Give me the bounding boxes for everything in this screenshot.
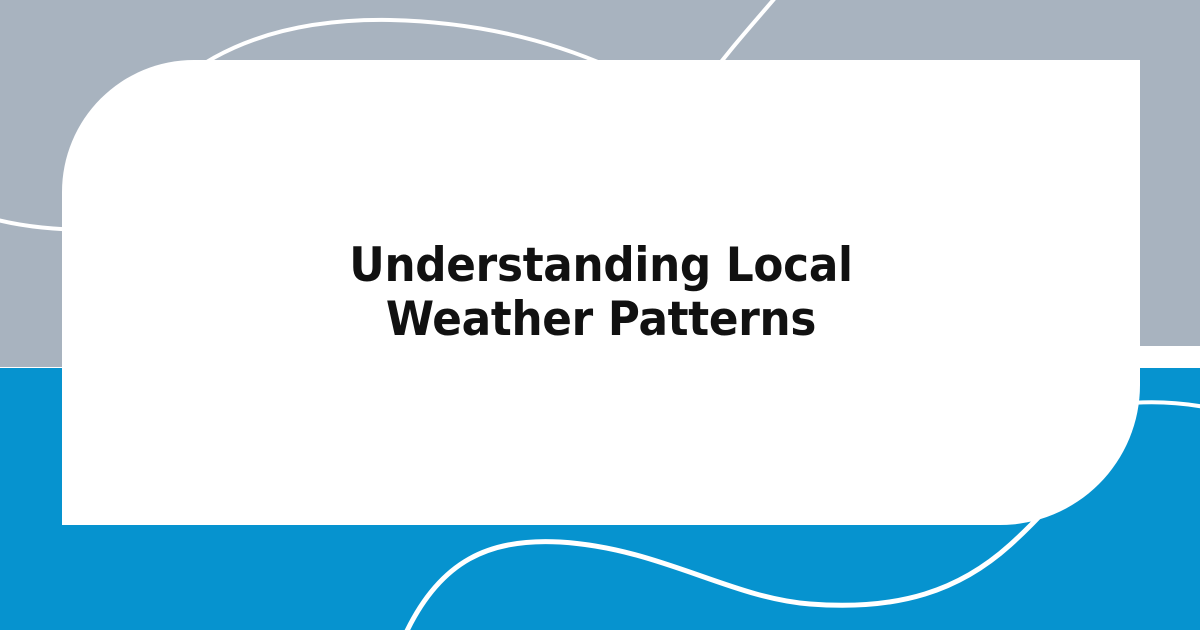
page-title: Understanding Local Weather Patterns [276, 239, 927, 345]
background-gray-tab [0, 346, 62, 367]
content-card-inner: Understanding Local Weather Patterns [62, 60, 1140, 525]
social-card-canvas: Understanding Local Weather Patterns [0, 0, 1200, 630]
content-card: Understanding Local Weather Patterns [62, 60, 1140, 525]
